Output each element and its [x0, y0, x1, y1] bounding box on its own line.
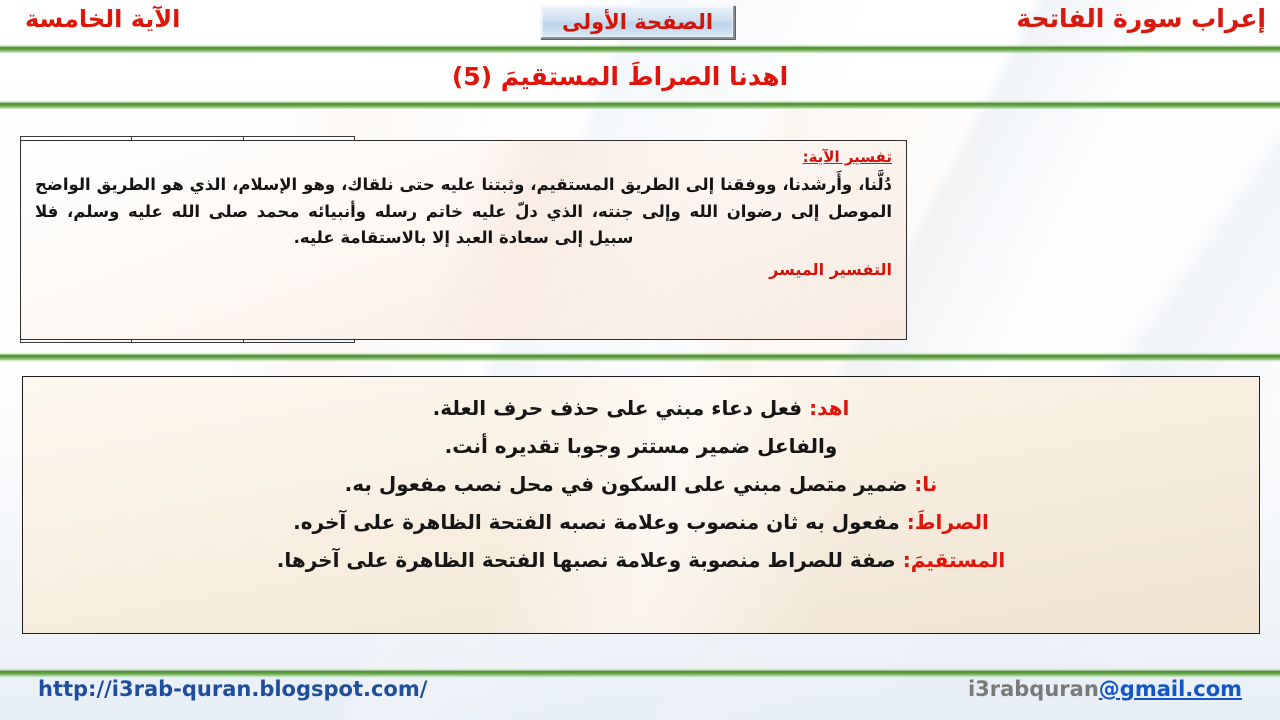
analysis-term: نا: — [914, 472, 937, 496]
analysis-line: المستقيمَ: صفة للصراط منصوبة وعلامة نصبه… — [47, 541, 1235, 579]
tafsir-heading: تفسير الآية: — [35, 148, 892, 166]
tafsir-source-label: التفسير الميسر — [35, 260, 892, 279]
email-user: i3rabquran — [968, 677, 1099, 701]
divider-middle — [0, 352, 1280, 362]
analysis-term: الصراطَ: — [907, 510, 989, 534]
verse-number-label: الآية الخامسة — [25, 5, 180, 33]
analysis-term: المستقيمَ: — [903, 548, 1006, 572]
analysis-term: اهد: — [809, 396, 849, 420]
analysis-line: والفاعل ضمير مستتر وجوبا تقديره أنت. — [47, 427, 1235, 465]
divider-top — [0, 44, 1280, 54]
analysis-line: نا: ضمير متصل مبني على السكون في محل نصب… — [47, 465, 1235, 503]
analysis-text: مفعول به ثان منصوب وعلامة نصبه الفتحة ال… — [293, 510, 900, 534]
contact-email: i3rabquran@gmail.com — [968, 677, 1242, 701]
divider-under-verse — [0, 100, 1280, 110]
tafsir-panel: تفسير الآية: دُلَّنا، وأَرشدنا، ووفقنا إ… — [20, 140, 907, 340]
slide-footer: http://i3rab-quran.blogspot.com/ i3rabqu… — [0, 668, 1280, 720]
analysis-text: والفاعل ضمير مستتر وجوبا تقديره أنت. — [445, 434, 838, 458]
analysis-text: صفة للصراط منصوبة وعلامة نصبها الفتحة ال… — [277, 548, 896, 572]
page-title: إعراب سورة الفاتحة — [1016, 4, 1266, 33]
slide-header: إعراب سورة الفاتحة الصفحة الأولى الآية ا… — [0, 0, 1280, 46]
irab-analysis-panel: اهد: فعل دعاء مبني على حذف حرف العلة. وا… — [22, 376, 1260, 634]
analysis-text: فعل دعاء مبني على حذف حرف العلة. — [433, 396, 803, 420]
analysis-line: اهد: فعل دعاء مبني على حذف حرف العلة. — [47, 389, 1235, 427]
verse-title: اهدنا الصراطَ المستقيمَ (5) — [452, 62, 788, 91]
email-domain-link[interactable]: @gmail.com — [1099, 677, 1242, 701]
analysis-text: ضمير متصل مبني على السكون في محل نصب مفع… — [345, 472, 908, 496]
blog-url-link[interactable]: http://i3rab-quran.blogspot.com/ — [38, 677, 427, 701]
tafsir-text: دُلَّنا، وأَرشدنا، ووفقنا إلى الطريق الم… — [35, 172, 892, 252]
analysis-line: الصراطَ: مفعول به ثان منصوب وعلامة نصبه … — [47, 503, 1235, 541]
verse-title-strip: اهدنا الصراطَ المستقيمَ (5) — [0, 54, 1280, 98]
page-number-button[interactable]: الصفحة الأولى — [540, 5, 735, 39]
